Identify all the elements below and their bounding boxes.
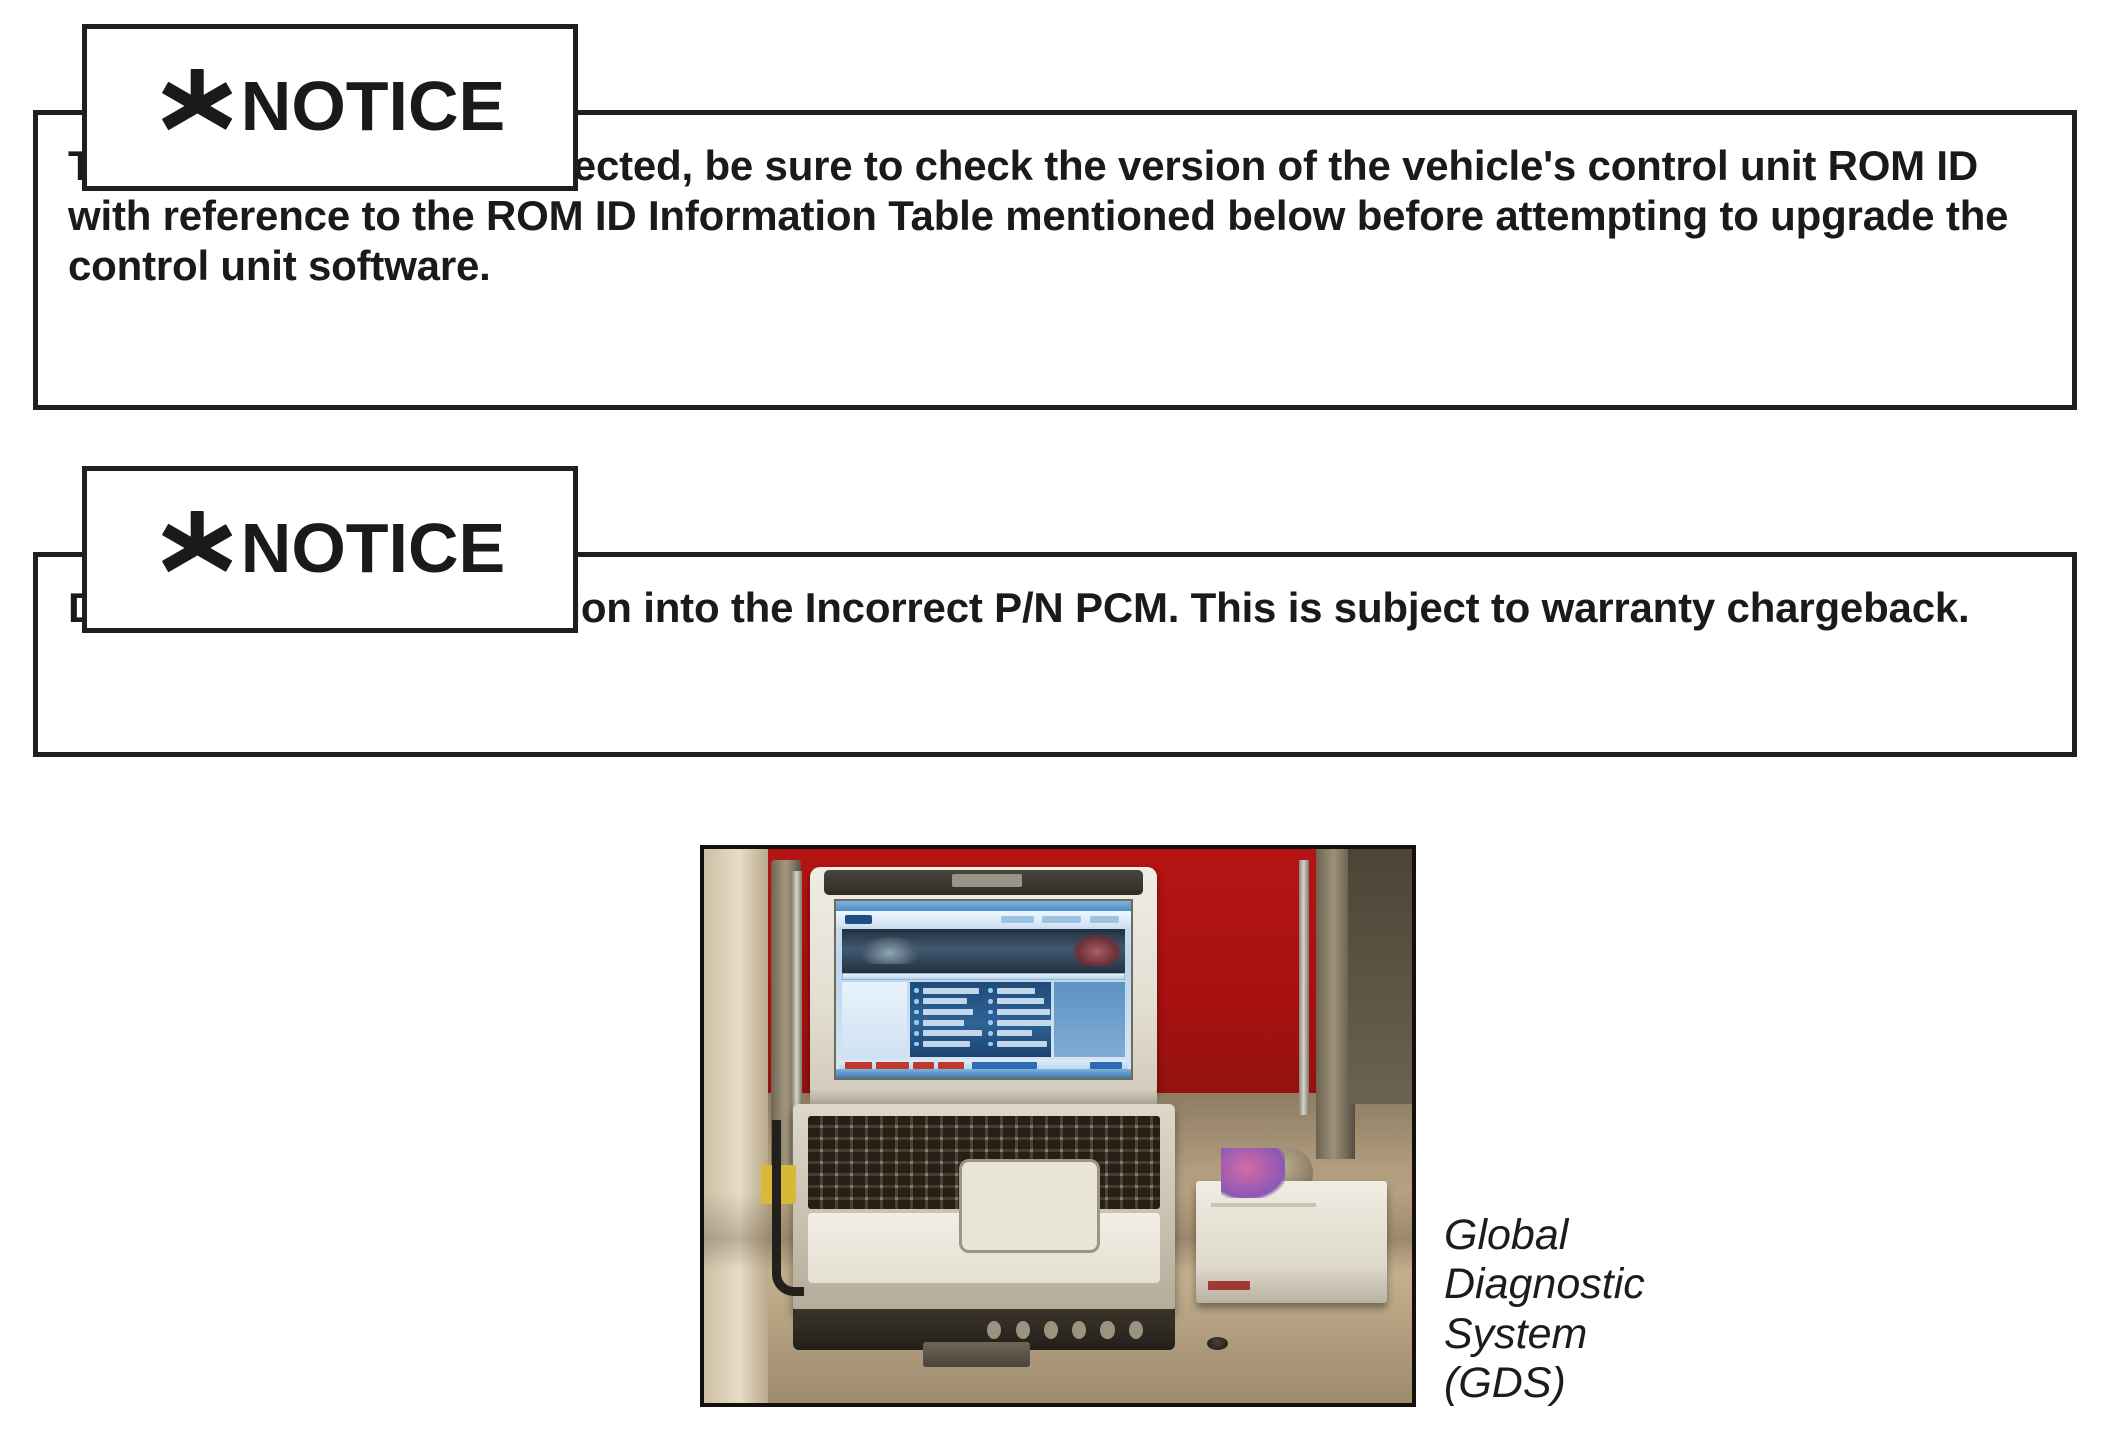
gds-titlebar — [836, 901, 1130, 912]
photo-caption: Global Diagnostic System (GDS) — [1444, 1211, 1804, 1409]
gds-status-chip — [913, 1062, 934, 1069]
gds-menu-item — [997, 1020, 1053, 1026]
gds-tab — [1042, 916, 1080, 923]
photo-frame — [700, 845, 1416, 1407]
gds-menu-item — [923, 988, 979, 994]
gds-menu-item — [997, 1030, 1032, 1036]
laptop-port — [1100, 1321, 1114, 1339]
gds-status-chip — [845, 1062, 871, 1069]
gds-status-chip — [1090, 1062, 1122, 1069]
gds-menu-bullet — [914, 999, 919, 1004]
laptop-sticker — [1221, 1148, 1285, 1198]
gds-menu-item — [923, 1020, 964, 1026]
gds-menu-item — [997, 1009, 1050, 1015]
notice-block-1: To verify the vehicle is affected, be su… — [33, 24, 2077, 390]
gds-menu-bullet — [914, 1031, 919, 1036]
gds-menu-item — [997, 988, 1035, 994]
gds-hero-image-left — [860, 936, 919, 964]
notice-label-1: NOTICE — [82, 24, 578, 191]
gds-menu-bullet — [988, 1020, 993, 1025]
photo-scene — [704, 849, 1412, 1403]
gds-menu-bullet — [988, 1031, 993, 1036]
gds-status-chip — [876, 1062, 908, 1069]
gds-toolbar — [836, 911, 1130, 927]
gds-menu-bullet — [988, 1042, 993, 1047]
asterisk-icon — [155, 64, 239, 148]
scene-cabinet-left — [704, 849, 768, 1403]
gds-tab — [1001, 916, 1033, 923]
laptop-port — [1016, 1321, 1030, 1339]
gds-menu-item — [997, 998, 1044, 1004]
gds-taskbar — [836, 1069, 1130, 1078]
gds-menu-item — [923, 1030, 982, 1036]
gds-left-pane — [842, 982, 907, 1060]
asterisk-icon — [155, 506, 239, 590]
gds-menu-item — [923, 1041, 970, 1047]
gds-status-chip — [938, 1062, 964, 1069]
external-drive-label — [1208, 1281, 1250, 1290]
diagnostic-cable — [772, 1120, 804, 1295]
external-drive-seam — [1211, 1203, 1316, 1207]
notice-label-text-2: NOTICE — [241, 513, 505, 583]
laptop-screen — [834, 899, 1132, 1081]
laptop-brand-plate — [952, 874, 1021, 886]
notice-label-text-1: NOTICE — [241, 71, 505, 141]
gds-menu-bullet — [988, 988, 993, 993]
gds-menu-item — [923, 1009, 973, 1015]
gds-status-chip — [972, 1062, 1037, 1069]
external-drive — [1196, 1181, 1387, 1303]
gds-logo — [845, 915, 871, 924]
scene-rod-right — [1299, 860, 1310, 1115]
gds-search-bar — [842, 973, 1125, 980]
gds-hero-image-right — [1072, 934, 1122, 966]
notice-block-2: Do Not Force the Calibration into the In… — [33, 466, 2077, 762]
gds-menu-bullet — [988, 999, 993, 1004]
notice-label-2: NOTICE — [82, 466, 578, 633]
gds-menu-item — [923, 998, 967, 1004]
gds-menu-item — [997, 1041, 1047, 1047]
bench-hole — [1207, 1337, 1228, 1350]
gds-tab — [1090, 916, 1119, 923]
laptop-lid — [810, 867, 1157, 1094]
laptop-touchpad — [959, 1159, 1101, 1253]
laptop-latch — [923, 1342, 1029, 1367]
scene-dark-right — [1348, 849, 1412, 1104]
gds-right-menu — [1054, 982, 1125, 1057]
gds-photo — [700, 845, 1416, 1407]
gds-menu-bullet — [988, 1010, 993, 1015]
